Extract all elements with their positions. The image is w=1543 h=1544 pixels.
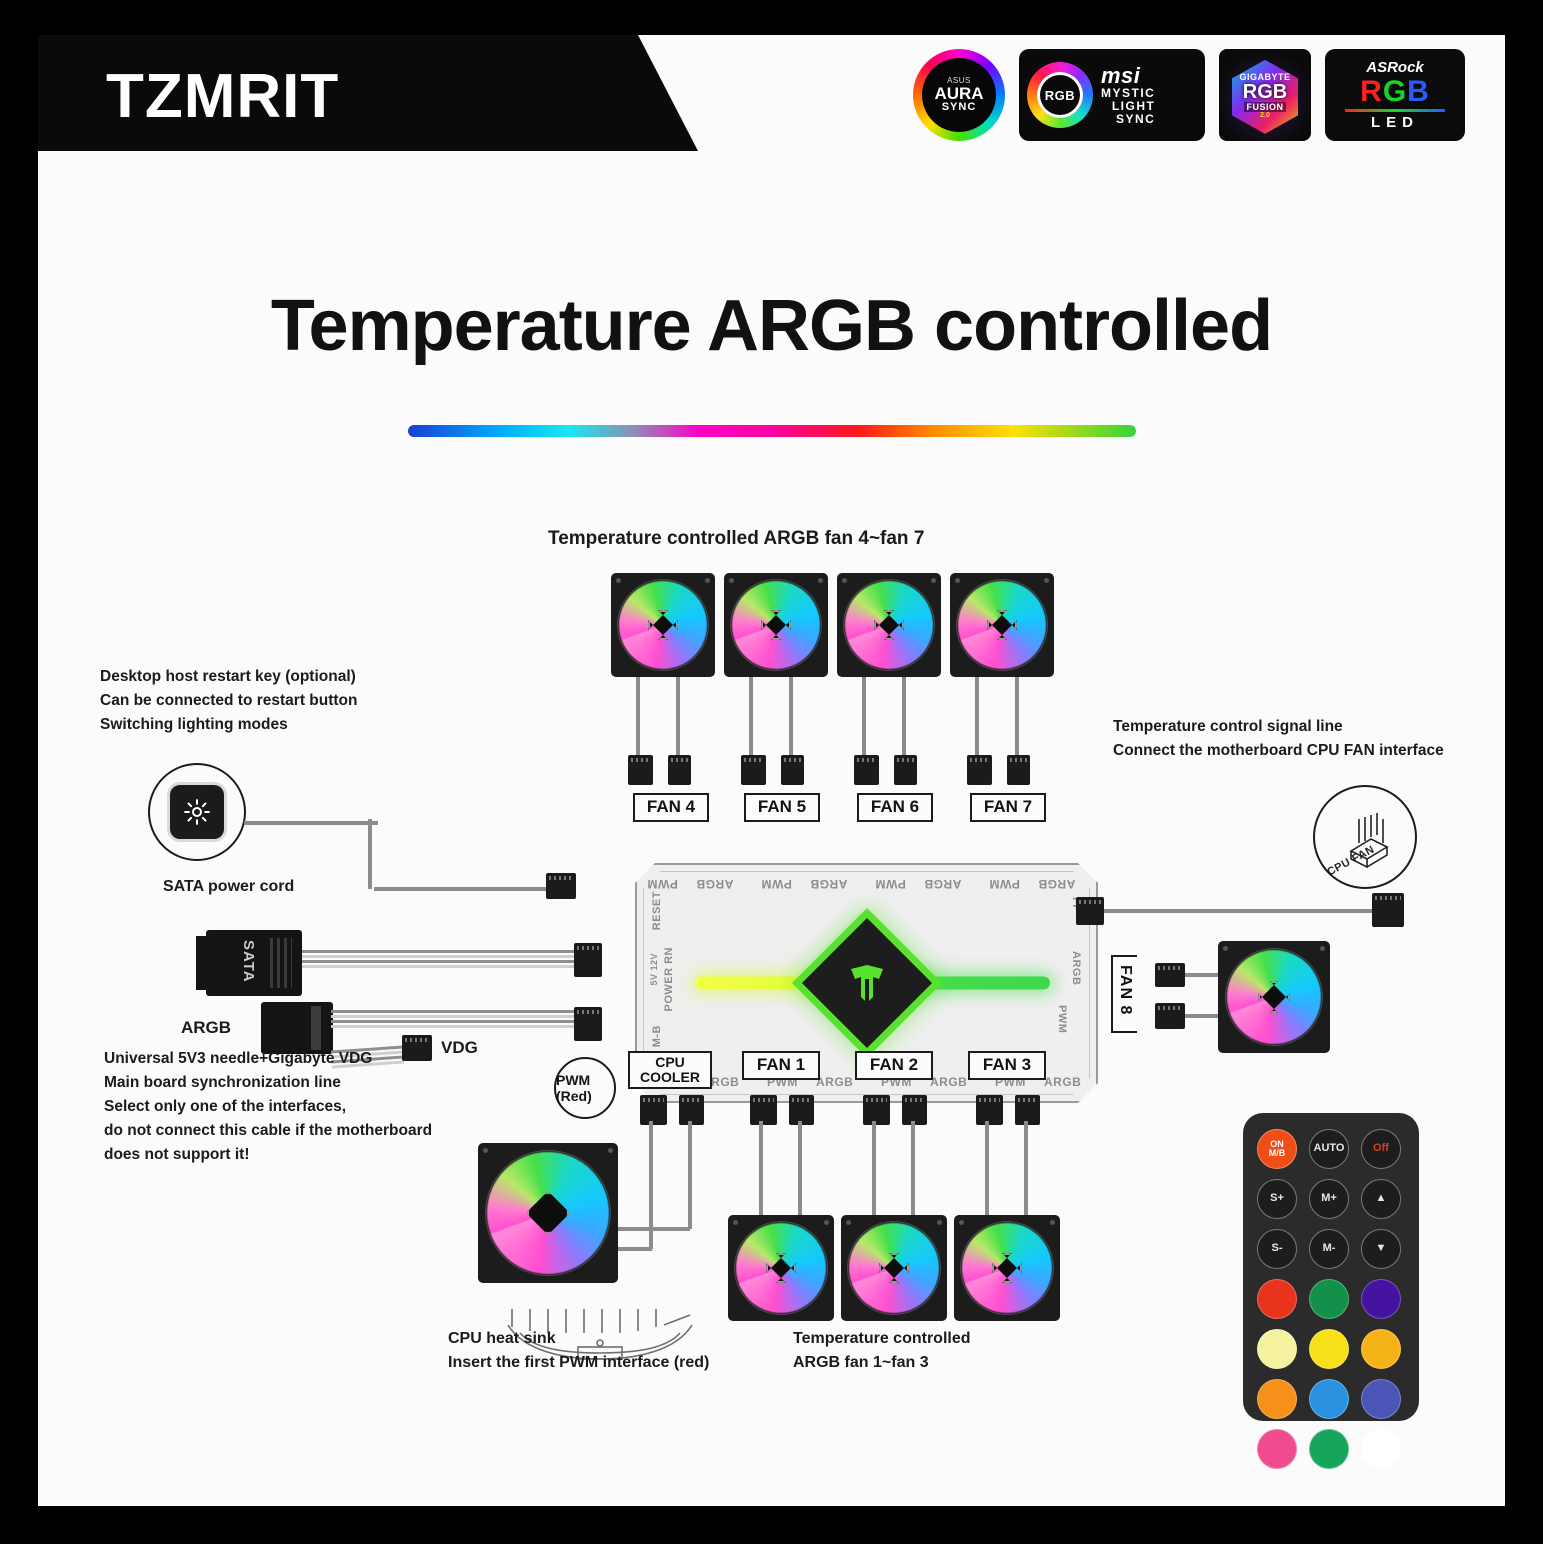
cpu-fan-connector-right	[1372, 893, 1404, 927]
fan-4-label: FAN 4	[633, 793, 709, 822]
rgb-ring-icon: RGB	[1027, 62, 1093, 128]
fan-6-label: FAN 6	[857, 793, 933, 822]
sata-end-connector	[574, 943, 602, 977]
badge-msi-mystic-light-sync: RGB msi MYSTIC LIGHT SYNC	[1019, 49, 1205, 141]
brand-logo: TZMRIT	[106, 61, 339, 132]
hub-top-port-5: PWM	[875, 877, 906, 891]
sata-text: SATA	[240, 940, 257, 983]
fan-4-connector-b	[668, 755, 691, 785]
fan-4-illustration	[611, 573, 715, 677]
label-argb: ARGB	[181, 1015, 231, 1041]
restart-connector	[546, 873, 576, 899]
hub-bottom-port-6: ARGB	[930, 1075, 967, 1089]
note-sync-line: Universal 5V3 needle+Gigabyte VDG Main b…	[104, 1047, 534, 1167]
remote-button-brightness-down-icon[interactable]: ▼	[1361, 1229, 1401, 1269]
argb-ribbon-cable	[331, 1010, 574, 1013]
fp-connector-left	[1076, 897, 1104, 925]
sata-ribbon-cable	[302, 950, 574, 953]
restart-wire-h1	[244, 821, 378, 825]
remote-color-swatch[interactable]	[1309, 1429, 1349, 1469]
led-text: LED	[1371, 114, 1419, 131]
fan-7-connector-a	[967, 755, 992, 785]
msi-wordmark: msi	[1101, 64, 1155, 88]
infographic-page: TZMRIT ASUS AURA SYNC RGB msi MYSTIC LIG…	[0, 0, 1543, 1544]
hub-left-port-power: POWER RN	[663, 947, 675, 1012]
fan-3-wire-b	[1024, 1121, 1028, 1225]
fan-8-label: FAN 8	[1111, 955, 1137, 1033]
page-title: Temperature ARGB controlled	[38, 285, 1505, 367]
fan-6-connector-a	[854, 755, 879, 785]
fan-1-illustration	[728, 1215, 834, 1321]
fan-1-label: FAN 1	[742, 1051, 820, 1080]
fan-3-wire-a	[985, 1121, 989, 1225]
fan-6-connector-b	[894, 755, 917, 785]
cpu-fan-signal-wire	[1104, 909, 1376, 913]
hub-right-port-argb: ARGB	[1070, 951, 1082, 985]
hub-top-port-3: PWM	[761, 877, 792, 891]
sync-text: SYNC	[942, 102, 977, 113]
cpu-cooler-label: CPU COOLER	[628, 1051, 712, 1089]
remote-button-mode-down[interactable]: M-	[1309, 1229, 1349, 1269]
rgb-letters: RGB	[1360, 78, 1430, 107]
rgb-ring-label: RGB	[1045, 88, 1075, 103]
fan-1-wire-a	[759, 1121, 763, 1225]
gigabyte-wordmark: GIGABYTE	[1239, 72, 1290, 82]
badge-asrock-rgb-led: ASRock RGB LED	[1325, 49, 1465, 141]
cpu-cooler-connector-a	[640, 1095, 667, 1125]
fan-2-wire-a	[872, 1121, 876, 1225]
remote-button-auto[interactable]: AUTO	[1309, 1129, 1349, 1169]
brightness-icon	[170, 785, 224, 839]
letter-g: G	[1383, 75, 1407, 108]
remote-button-off[interactable]: Off	[1361, 1129, 1401, 1169]
fan-5-connector-b	[781, 755, 804, 785]
rgb-underline	[1345, 109, 1445, 112]
note-temp-signal-line: Temperature control signal line Connect …	[1113, 715, 1533, 763]
hub-top-port-1: PWM	[647, 877, 678, 891]
caption-top-fans: Temperature controlled ARGB fan 4~fan 7	[548, 525, 924, 554]
remote-color-swatch[interactable]	[1257, 1329, 1297, 1369]
hub-bottom-port-8: ARGB	[1044, 1075, 1081, 1089]
remote-color-swatch[interactable]	[1361, 1379, 1401, 1419]
remote-button-grid: ON M/B AUTO Off S+ M+ ▲ S- M- ▼	[1257, 1129, 1405, 1469]
fusion-text: FUSION	[1244, 102, 1285, 112]
asrock-wordmark: ASRock	[1366, 59, 1424, 76]
remote-color-swatch[interactable]	[1257, 1279, 1297, 1319]
fan-2-connector-a	[863, 1095, 890, 1125]
fan-5-label: FAN 5	[744, 793, 820, 822]
hub-top-port-2: ARGB	[696, 877, 733, 891]
compatibility-badges: ASUS AURA SYNC RGB msi MYSTIC LIGHT SYNC…	[913, 49, 1465, 141]
beast-head-icon	[845, 963, 889, 1003]
fan-7-illustration	[950, 573, 1054, 677]
white-canvas: TZMRIT ASUS AURA SYNC RGB msi MYSTIC LIG…	[38, 35, 1505, 1506]
fan-7-connector-b	[1007, 755, 1030, 785]
remote-button-mode-up[interactable]: M+	[1309, 1179, 1349, 1219]
remote-button-on-mb[interactable]: ON M/B	[1257, 1129, 1297, 1169]
cpu-cooler-wire-b	[688, 1121, 692, 1229]
fan-8-illustration	[1218, 941, 1330, 1053]
sata-connector: SATA	[206, 930, 302, 996]
fan-4-connector-a	[628, 755, 653, 785]
fan-1-connector-a	[750, 1095, 777, 1125]
hub-left-port-mb: M-B	[651, 1025, 663, 1047]
hub-top-port-7: PWM	[989, 877, 1020, 891]
fan-2-label: FAN 2	[855, 1051, 933, 1080]
fan-8-connector-a	[1155, 963, 1185, 987]
remote-color-swatch[interactable]	[1309, 1329, 1349, 1369]
remote-button-brightness-up-icon[interactable]: ▲	[1361, 1179, 1401, 1219]
hub-right-port-pwm: PWM	[1056, 1005, 1068, 1033]
remote-color-swatch[interactable]	[1257, 1429, 1297, 1469]
version-text: 2.0	[1260, 112, 1270, 119]
fan-3-illustration	[954, 1215, 1060, 1321]
remote-color-swatch[interactable]	[1361, 1329, 1401, 1369]
rainbow-divider	[408, 425, 1136, 437]
caption-cpu-heatsink: CPU heat sink Insert the first PWM inter…	[448, 1327, 709, 1375]
remote-color-swatch[interactable]	[1309, 1379, 1349, 1419]
sync-text: SYNC	[1101, 113, 1155, 126]
fan-2-wire-b	[911, 1121, 915, 1225]
caption-bottom-fans: Temperature controlled ARGB fan 1~fan 3	[793, 1327, 971, 1375]
fan-7-label: FAN 7	[970, 793, 1046, 822]
aura-text: AURA	[934, 85, 983, 102]
letter-b: B	[1407, 75, 1430, 108]
fan-1-wire-b	[798, 1121, 802, 1225]
fan-8-connector-b	[1155, 1003, 1185, 1029]
badge-asus-aura-sync: ASUS AURA SYNC	[913, 49, 1005, 141]
fan-3-connector-a	[976, 1095, 1003, 1125]
fan-6-illustration	[837, 573, 941, 677]
hub-bottom-port-4: ARGB	[816, 1075, 853, 1089]
restart-wire-h2	[374, 887, 550, 891]
cpu-heatsink-fan	[478, 1143, 618, 1283]
cpu-fan-header-circle: CPU FAN	[1313, 785, 1417, 889]
fan-5-illustration	[724, 573, 828, 677]
hub-top-port-6: ARGB	[924, 877, 961, 891]
badge-gigabyte-rgb-fusion: GIGABYTE RGB FUSION 2.0	[1219, 49, 1311, 141]
remote-button-speed-up[interactable]: S+	[1257, 1179, 1297, 1219]
fan-5-connector-a	[741, 755, 766, 785]
note-restart-key: Desktop host restart key (optional) Can …	[100, 665, 520, 737]
rgb-text: RGB	[1243, 82, 1287, 102]
fan-2-illustration	[841, 1215, 947, 1321]
remote-color-swatch[interactable]	[1257, 1379, 1297, 1419]
restart-wire-v	[368, 819, 372, 889]
letter-r: R	[1360, 75, 1383, 108]
remote-button-speed-down[interactable]: S-	[1257, 1229, 1297, 1269]
hub-top-port-4: ARGB	[810, 877, 847, 891]
restart-key-circle	[148, 763, 246, 861]
remote-color-swatch[interactable]	[1309, 1279, 1349, 1319]
fan-3-label: FAN 3	[968, 1051, 1046, 1080]
hub-top-port-8: ARGB	[1038, 877, 1075, 891]
remote-color-swatch[interactable]	[1361, 1279, 1401, 1319]
hub-left-port-reset: RESET	[651, 891, 663, 930]
pwm-red-callout: PWM (Red)	[554, 1057, 616, 1119]
rgb-remote-control[interactable]: ON M/B AUTO Off S+ M+ ▲ S- M- ▼	[1243, 1113, 1419, 1421]
remote-color-swatch[interactable]	[1361, 1429, 1401, 1469]
hub-left-power-detail: 5V 12V	[649, 953, 659, 986]
argb-end-connector	[574, 1007, 602, 1041]
label-sata-power-cord: SATA power cord	[163, 875, 294, 899]
